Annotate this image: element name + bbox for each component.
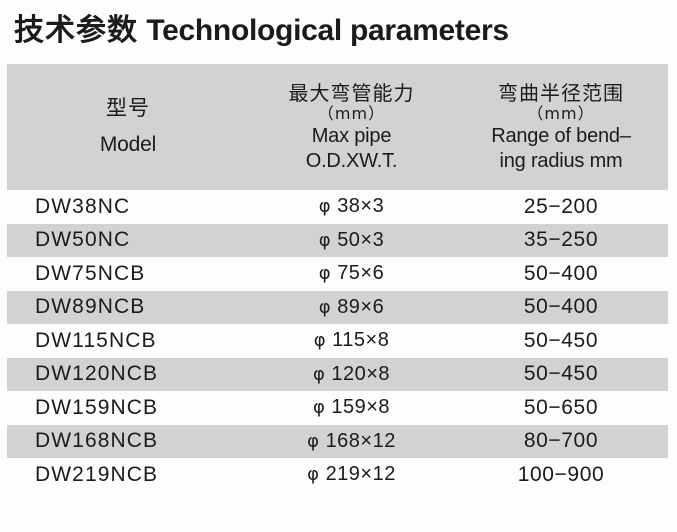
table-row: DW89NCBφ 89×650−400 xyxy=(7,291,668,325)
cell-bend-radius: 35−250 xyxy=(454,224,668,258)
column-header-max-pipe-english-line1: Max pipe xyxy=(312,125,392,147)
cell-bend-radius: 50−450 xyxy=(454,358,668,392)
cell-bend-radius: 50−400 xyxy=(454,257,668,291)
cell-max-pipe-value: 115×8 xyxy=(332,329,389,351)
diameter-symbol-icon: φ xyxy=(319,263,331,284)
cell-bend-radius: 80−700 xyxy=(454,425,668,459)
cell-max-pipe-value: 75×6 xyxy=(337,262,384,284)
column-header-bend-radius-chinese: 弯曲半径范围 xyxy=(498,82,624,104)
table-row: DW120NCBφ 120×850−450 xyxy=(7,358,668,392)
table-row: DW50NCφ 50×335−250 xyxy=(7,224,668,258)
cell-bend-radius: 100−900 xyxy=(454,458,668,492)
column-header-max-pipe-chinese: 最大弯管能力 xyxy=(289,82,415,104)
cell-model: DW159NCB xyxy=(7,391,249,425)
page-title-english: Technological parameters xyxy=(146,14,508,47)
cell-model: DW168NCB xyxy=(7,425,249,459)
cell-max-pipe: φ 168×12 xyxy=(249,425,454,459)
cell-max-pipe: φ 120×8 xyxy=(249,358,454,392)
diameter-symbol-icon: φ xyxy=(319,230,331,251)
cell-model: DW75NCB xyxy=(7,257,249,291)
cell-model: DW89NCB xyxy=(7,291,249,325)
cell-max-pipe: φ 89×6 xyxy=(249,291,454,325)
diameter-symbol-icon: φ xyxy=(319,196,331,217)
table-row: DW168NCBφ 168×1280−700 xyxy=(7,425,668,459)
diameter-symbol-icon: φ xyxy=(319,297,331,318)
cell-max-pipe-value: 159×8 xyxy=(331,396,390,418)
cell-model: DW50NC xyxy=(7,224,249,258)
cell-max-pipe: φ 38×3 xyxy=(249,190,454,224)
column-header-max-pipe-english-line2: O.D.XW.T. xyxy=(306,150,398,172)
cell-max-pipe-value: 120×8 xyxy=(331,363,390,385)
column-header-model-english: Model xyxy=(100,133,156,157)
cell-bend-radius: 50−450 xyxy=(454,324,668,358)
cell-max-pipe-value: 168×12 xyxy=(326,430,396,452)
column-header-bend-radius-english-line2: ing radius mm xyxy=(500,150,623,172)
cell-max-pipe: φ 50×3 xyxy=(249,224,454,258)
cell-bend-radius: 25−200 xyxy=(454,190,668,224)
spec-sheet-page: 技术参数 Technological parameters 型号 Model 最… xyxy=(0,0,677,532)
cell-max-pipe: φ 219×12 xyxy=(249,458,454,492)
cell-max-pipe: φ 159×8 xyxy=(249,391,454,425)
cell-max-pipe-value: 38×3 xyxy=(337,195,384,217)
column-header-bend-radius: 弯曲半径范围 （mm） Range of bend– ing radius mm xyxy=(454,64,668,190)
table-row: DW219NCBφ 219×12100−900 xyxy=(7,458,668,492)
cell-max-pipe-value: 50×3 xyxy=(337,229,384,251)
cell-model: DW120NCB xyxy=(7,358,249,392)
table-row: DW159NCBφ 159×850−650 xyxy=(7,391,668,425)
table-row: DW115NCBφ 115×850−450 xyxy=(7,324,668,358)
cell-bend-radius: 50−650 xyxy=(454,391,668,425)
diameter-symbol-icon: φ xyxy=(313,364,325,385)
page-title: 技术参数 Technological parameters xyxy=(14,11,509,51)
column-header-bend-radius-english-line1: Range of bend– xyxy=(491,125,631,147)
cell-max-pipe-value: 89×6 xyxy=(337,296,384,318)
cell-bend-radius: 50−400 xyxy=(454,291,668,325)
diameter-symbol-icon: φ xyxy=(313,397,325,418)
cell-model: DW115NCB xyxy=(7,324,249,358)
table-row: DW38NCφ 38×325−200 xyxy=(7,190,668,224)
diameter-symbol-icon: φ xyxy=(307,431,319,452)
column-header-max-pipe: 最大弯管能力 （mm） Max pipe O.D.XW.T. xyxy=(249,64,454,190)
cell-max-pipe: φ 75×6 xyxy=(249,257,454,291)
cell-max-pipe: φ 115×8 xyxy=(249,324,454,358)
table-header: 型号 Model 最大弯管能力 （mm） Max pipe O.D.XW.T. … xyxy=(7,64,668,190)
column-header-max-pipe-unit: （mm） xyxy=(318,105,385,123)
cell-max-pipe-value: 219×12 xyxy=(326,463,396,485)
table-body: DW38NCφ 38×325−200DW50NCφ 50×335−250DW75… xyxy=(7,190,668,492)
column-header-model: 型号 Model xyxy=(7,64,249,190)
table-row: DW75NCBφ 75×650−400 xyxy=(7,257,668,291)
column-header-bend-radius-unit: （mm） xyxy=(527,105,594,123)
cell-model: DW38NC xyxy=(7,190,249,224)
diameter-symbol-icon: φ xyxy=(314,330,326,351)
technical-parameters-table: 型号 Model 最大弯管能力 （mm） Max pipe O.D.XW.T. … xyxy=(7,64,668,492)
cell-model: DW219NCB xyxy=(7,458,249,492)
column-header-model-chinese: 型号 xyxy=(106,97,150,121)
table-header-row: 型号 Model 最大弯管能力 （mm） Max pipe O.D.XW.T. … xyxy=(7,64,668,190)
diameter-symbol-icon: φ xyxy=(307,464,319,485)
page-title-chinese: 技术参数 xyxy=(14,13,138,48)
